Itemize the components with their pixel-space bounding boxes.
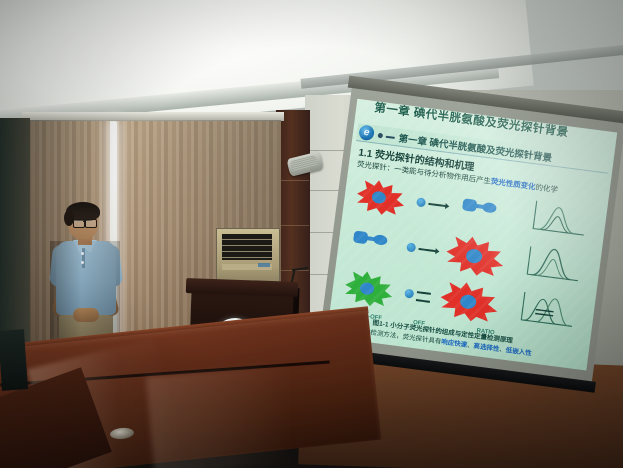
ac-vent-grille-icon (222, 234, 272, 260)
probe-blue-icon (462, 197, 485, 211)
analyte-dot-icon (404, 289, 414, 299)
projected-slide: 第一章 碘代半胱氨酸及荧光探针背景 e 第一章 碘代半胱氨酸及荧光探针背景 1.… (326, 99, 617, 371)
spectrum-plot (524, 242, 582, 283)
table-highlight (146, 359, 354, 468)
definition-suffix: 的化学 (535, 183, 558, 195)
foreground-chair (0, 329, 28, 391)
definition-highlight: 荧光性质变化 (490, 177, 536, 192)
body-highlight-1: 响应快速 (441, 339, 468, 349)
probe-blue-icon (353, 230, 376, 244)
burst-red-icon (353, 177, 409, 217)
analyte-dot-icon (416, 197, 426, 207)
spectrum-plot (530, 196, 588, 237)
wood-seam (277, 180, 309, 181)
presentation-photo: 第一章 碘代半胱氨酸及荧光探针背景 e 第一章 碘代半胱氨酸及荧光探针背景 1.… (0, 0, 623, 468)
equilibrium-arrows-icon (416, 291, 431, 303)
spectrum-plot (518, 288, 576, 329)
reaction-arrow-icon (428, 203, 446, 207)
body-highlight-3: 低嵌入性 (505, 347, 532, 357)
wood-seam (277, 225, 309, 226)
analyte-dot-icon (406, 242, 416, 252)
eyeglasses-icon (85, 219, 97, 228)
reaction-arrow-icon (418, 248, 436, 252)
burst-green-icon (341, 269, 397, 309)
eyeglasses-bridge-icon (83, 221, 86, 222)
burst-red-icon (436, 279, 502, 325)
burst-red-icon (442, 233, 508, 279)
ac-brand-mark (258, 263, 270, 267)
body-highlight-2: 高选择性 (473, 343, 500, 353)
